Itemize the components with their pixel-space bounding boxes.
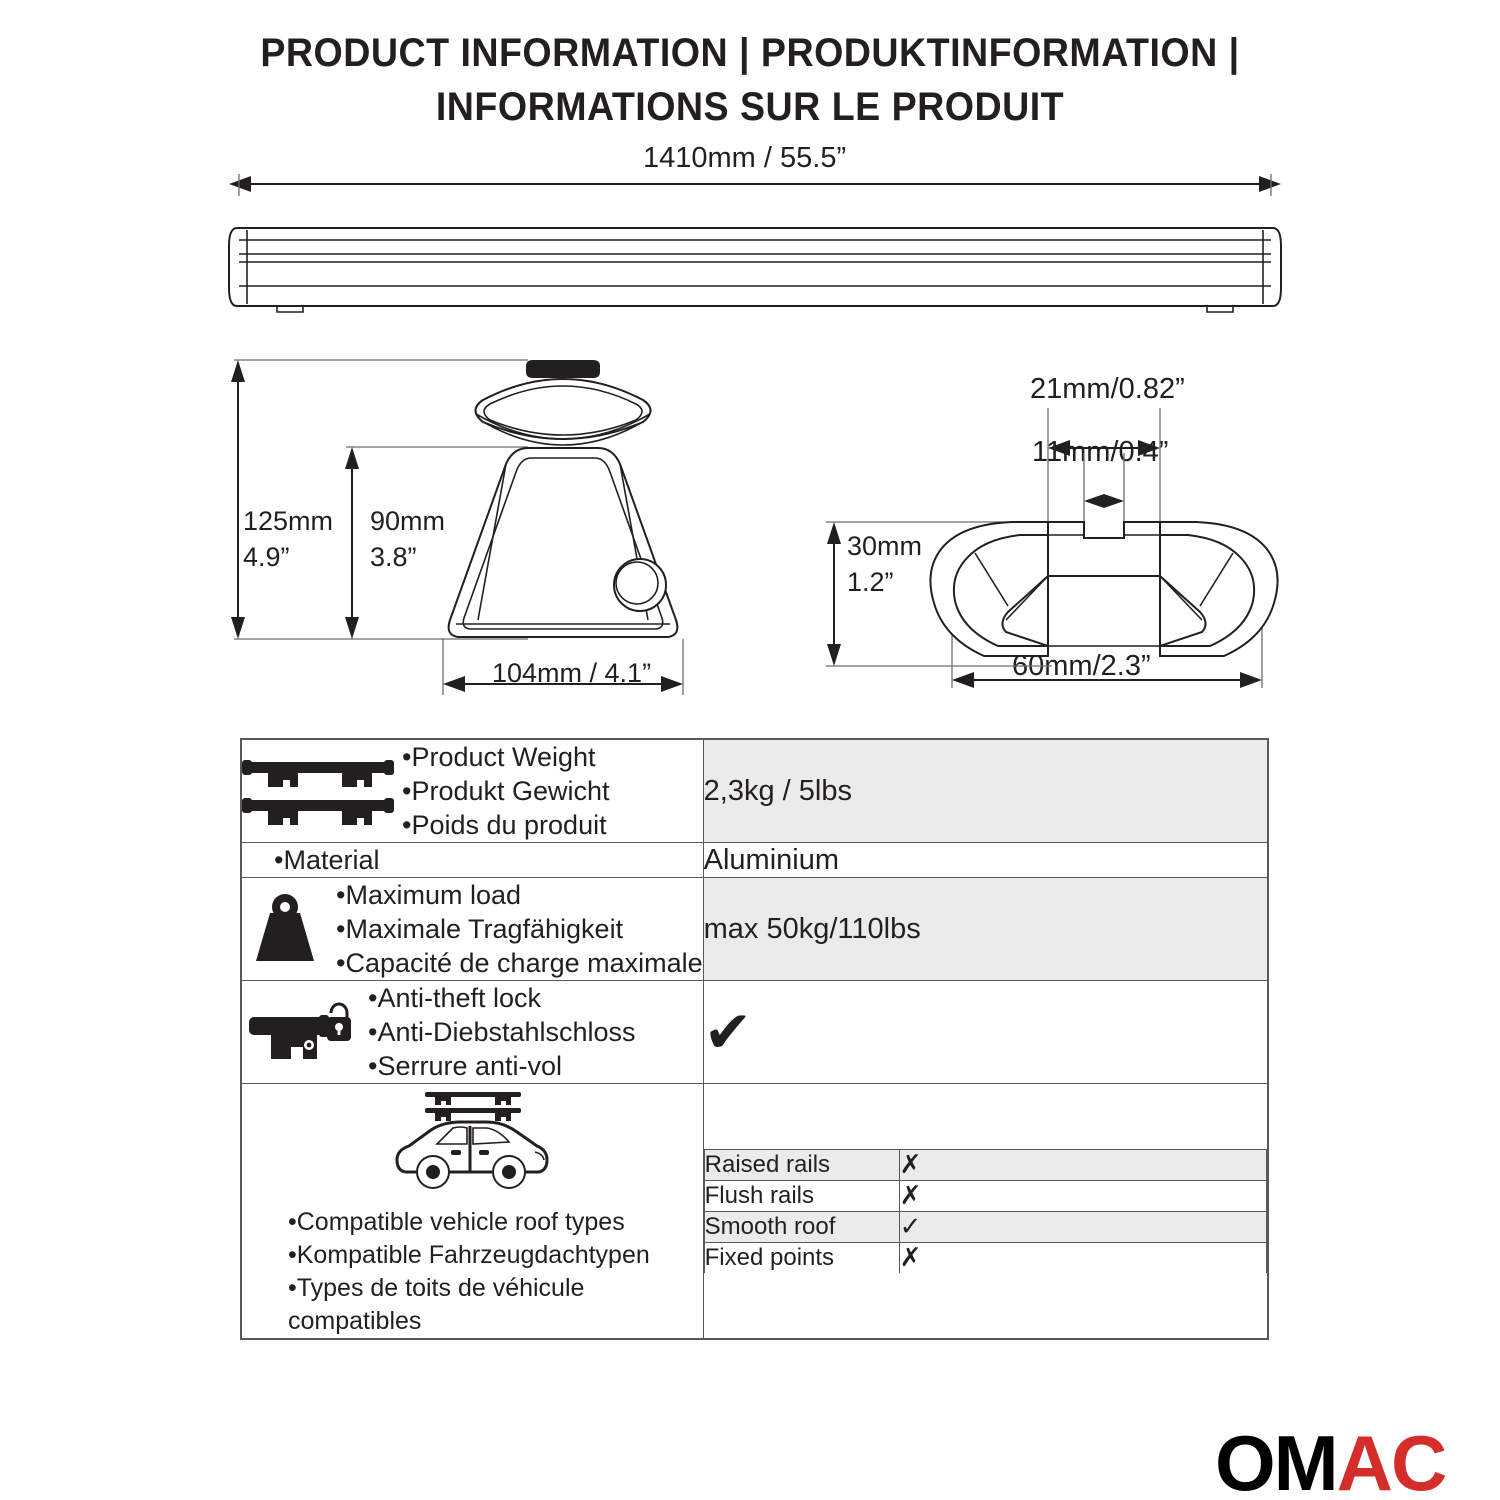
car-with-roof-bars-icon [242, 1084, 703, 1196]
roof-types-cell: Raised rails ✗ Flush rails ✗ Smooth roof… [703, 1084, 1268, 1340]
label-en: •Maximum load [336, 878, 703, 912]
label-fr: •Serrure anti-vol [368, 1049, 636, 1083]
page-title: PRODUCT INFORMATION | PRODUKTINFORMATION… [0, 26, 1500, 134]
material-value: Aluminium [703, 843, 1268, 878]
product-weight-label-cell: •Product Weight •Produkt Gewicht •Poids … [241, 739, 703, 843]
label-de: •Kompatible Fahrzeugdachtypen [288, 1239, 703, 1272]
label-de: •Anti-Diebstahlschloss [368, 1015, 636, 1049]
max-load-value: max 50kg/110lbs [703, 878, 1268, 981]
table-row: •Anti-theft lock •Anti-Diebstahlschloss … [241, 981, 1268, 1084]
logo-text-black: OM [1215, 1419, 1337, 1500]
label-en: •Product Weight [402, 740, 610, 774]
label-en: •Material [274, 843, 379, 877]
roof-type-support: ✗ [899, 1181, 1266, 1212]
table-row: •Compatible vehicle roof types •Kompatib… [241, 1084, 1268, 1340]
table-row: •Maximum load •Maximale Tragfähigkeit •C… [241, 878, 1268, 981]
label-fr: •Types de toits de véhicule [288, 1272, 703, 1305]
anti-theft-value: ✔ [703, 981, 1268, 1084]
roof-type-name: Smooth roof [704, 1212, 899, 1243]
label-en: •Anti-theft lock [368, 981, 636, 1015]
label-fr: •Capacité de charge maximale [336, 946, 703, 980]
roof-type-row: Flush rails ✗ [704, 1181, 1266, 1212]
bar-profile-cross-section-drawing [812, 398, 1290, 698]
roof-type-name: Fixed points [704, 1243, 899, 1274]
label-de: •Maximale Tragfähigkeit [336, 912, 703, 946]
roof-type-row: Smooth roof ✓ [704, 1212, 1266, 1243]
roof-types-table: Raised rails ✗ Flush rails ✗ Smooth roof… [704, 1149, 1267, 1273]
label-de: •Produkt Gewicht [402, 774, 610, 808]
roof-type-support: ✗ [899, 1243, 1266, 1274]
roof-type-row: Raised rails ✗ [704, 1150, 1266, 1181]
anti-theft-label-cell: •Anti-theft lock •Anti-Diebstahlschloss … [241, 981, 703, 1084]
max-load-label-cell: •Maximum load •Maximale Tragfähigkeit •C… [241, 878, 703, 981]
roof-type-name: Raised rails [704, 1150, 899, 1181]
title-line-1: PRODUCT INFORMATION | PRODUKTINFORMATION… [45, 26, 1455, 80]
label-fr: •Poids du produit [402, 808, 610, 842]
roof-type-support: ✓ [899, 1212, 1266, 1243]
roof-type-support: ✗ [899, 1150, 1266, 1181]
material-label-cell: •Material [241, 843, 703, 878]
roof-type-name: Flush rails [704, 1181, 899, 1212]
product-information-sheet: PRODUCT INFORMATION | PRODUKTINFORMATION… [0, 0, 1500, 1500]
title-line-2: INFORMATIONS SUR LE PRODUIT [45, 80, 1455, 134]
table-row: •Material Aluminium [241, 843, 1268, 878]
product-weight-labels: •Product Weight •Produkt Gewicht •Poids … [402, 740, 610, 842]
table-row: •Product Weight •Produkt Gewicht •Poids … [241, 739, 1268, 843]
crossbar-length-drawing [225, 170, 1285, 315]
compatibility-labels: •Compatible vehicle roof types •Kompatib… [242, 1206, 703, 1338]
logo-text-red: AC [1337, 1419, 1446, 1500]
product-weight-value: 2,3kg / 5lbs [703, 739, 1268, 843]
check-icon: ✔ [704, 998, 753, 1066]
max-load-labels: •Maximum load •Maximale Tragfähigkeit •C… [336, 878, 703, 980]
specification-table: •Product Weight •Produkt Gewicht •Poids … [240, 738, 1269, 1340]
lock-icon [242, 995, 360, 1069]
omac-logo: OMAC [1215, 1424, 1445, 1500]
weight-icon [242, 893, 328, 965]
roof-type-row: Fixed points ✗ [704, 1243, 1266, 1274]
label-en: •Compatible vehicle roof types [288, 1206, 703, 1239]
label-fr-cont: compatibles [288, 1305, 703, 1338]
roof-bars-icon [242, 754, 394, 828]
anti-theft-labels: •Anti-theft lock •Anti-Diebstahlschloss … [368, 981, 636, 1083]
tower-front-view-drawing [228, 352, 703, 697]
material-labels: •Material [274, 843, 379, 877]
compatibility-label-cell: •Compatible vehicle roof types •Kompatib… [241, 1084, 703, 1340]
